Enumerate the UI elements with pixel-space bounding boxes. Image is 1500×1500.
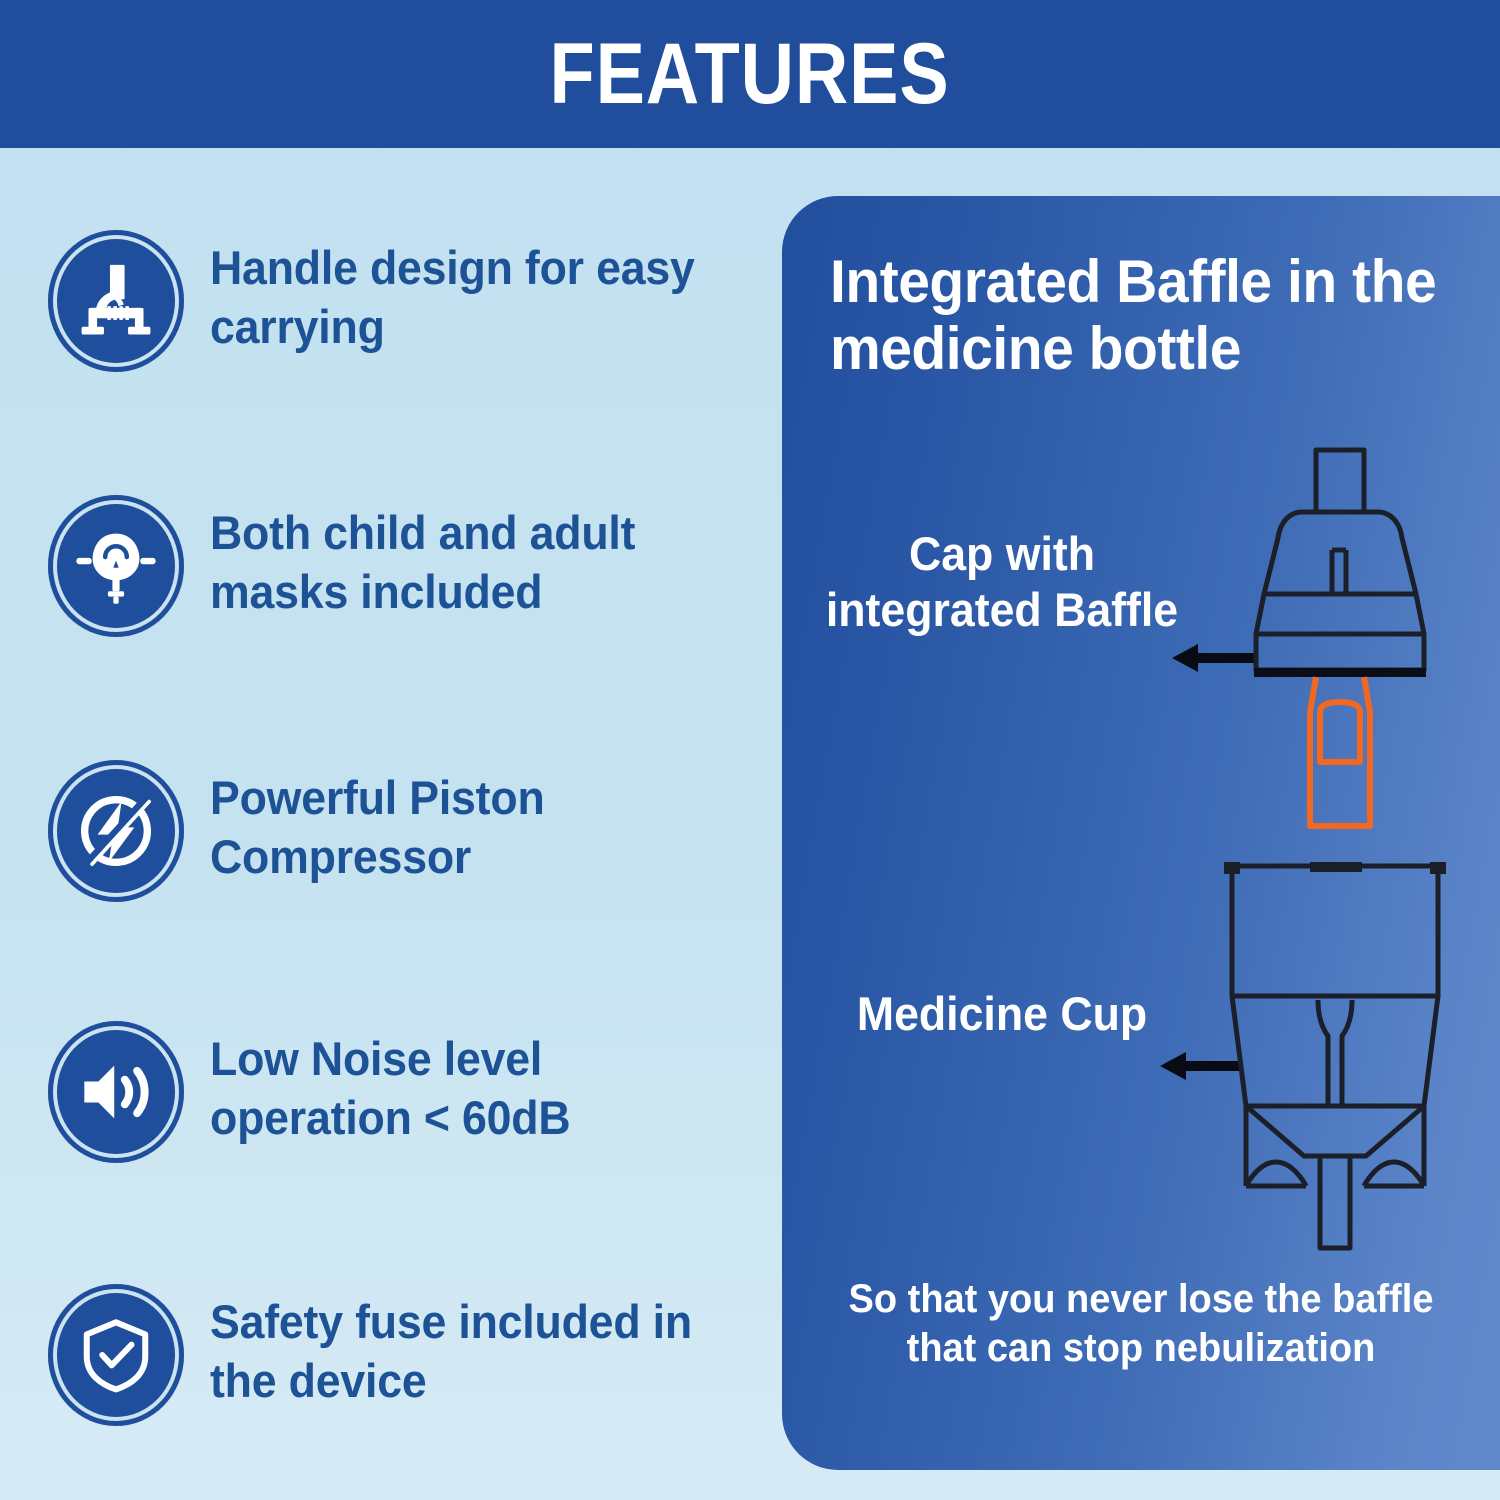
cap-with-baffle-diagram bbox=[1220, 446, 1460, 851]
feature-item-masks-included: Both child and adult masks included bbox=[48, 495, 758, 637]
header-bar: FEATURES bbox=[0, 0, 1500, 148]
feature-item-low-noise: Low Noise level operation < 60dB bbox=[48, 1021, 758, 1163]
shield-check-icon bbox=[48, 1284, 184, 1426]
page-title: FEATURES bbox=[550, 31, 950, 117]
medicine-cup-diagram bbox=[1210, 856, 1460, 1261]
integrated-baffle-panel: Integrated Baffle in the medicine bottle… bbox=[782, 196, 1500, 1470]
feature-item-handle-design: Handle design for easy carrying bbox=[48, 230, 758, 372]
cup-callout-label: Medicine Cup bbox=[831, 986, 1173, 1042]
lightning-bolt-icon bbox=[48, 760, 184, 902]
infographic-page: FEATURES bbox=[0, 0, 1500, 1500]
panel-title: Integrated Baffle in the medicine bottle bbox=[830, 248, 1438, 382]
feature-label: Handle design for easy carrying bbox=[210, 230, 731, 356]
features-list: Handle design for easy carrying bbox=[0, 148, 782, 1500]
baffle-diagram-area: Cap with integrated Baffle bbox=[782, 426, 1500, 1266]
face-mask-icon bbox=[48, 495, 184, 637]
panel-caption: So that you never lose the baffle that c… bbox=[828, 1275, 1453, 1374]
feature-label: Powerful Piston Compressor bbox=[210, 760, 731, 886]
feature-label: Both child and adult masks included bbox=[210, 495, 731, 621]
feature-item-safety-fuse: Safety fuse included in the device bbox=[48, 1284, 758, 1426]
hand-carrying-handle-icon bbox=[48, 230, 184, 372]
feature-label: Low Noise level operation < 60dB bbox=[210, 1021, 731, 1147]
cap-callout-label: Cap with integrated Baffle bbox=[822, 526, 1183, 639]
speaker-sound-icon bbox=[48, 1021, 184, 1163]
feature-label: Safety fuse included in the device bbox=[210, 1284, 731, 1410]
feature-item-piston-compressor: Powerful Piston Compressor bbox=[48, 760, 758, 902]
